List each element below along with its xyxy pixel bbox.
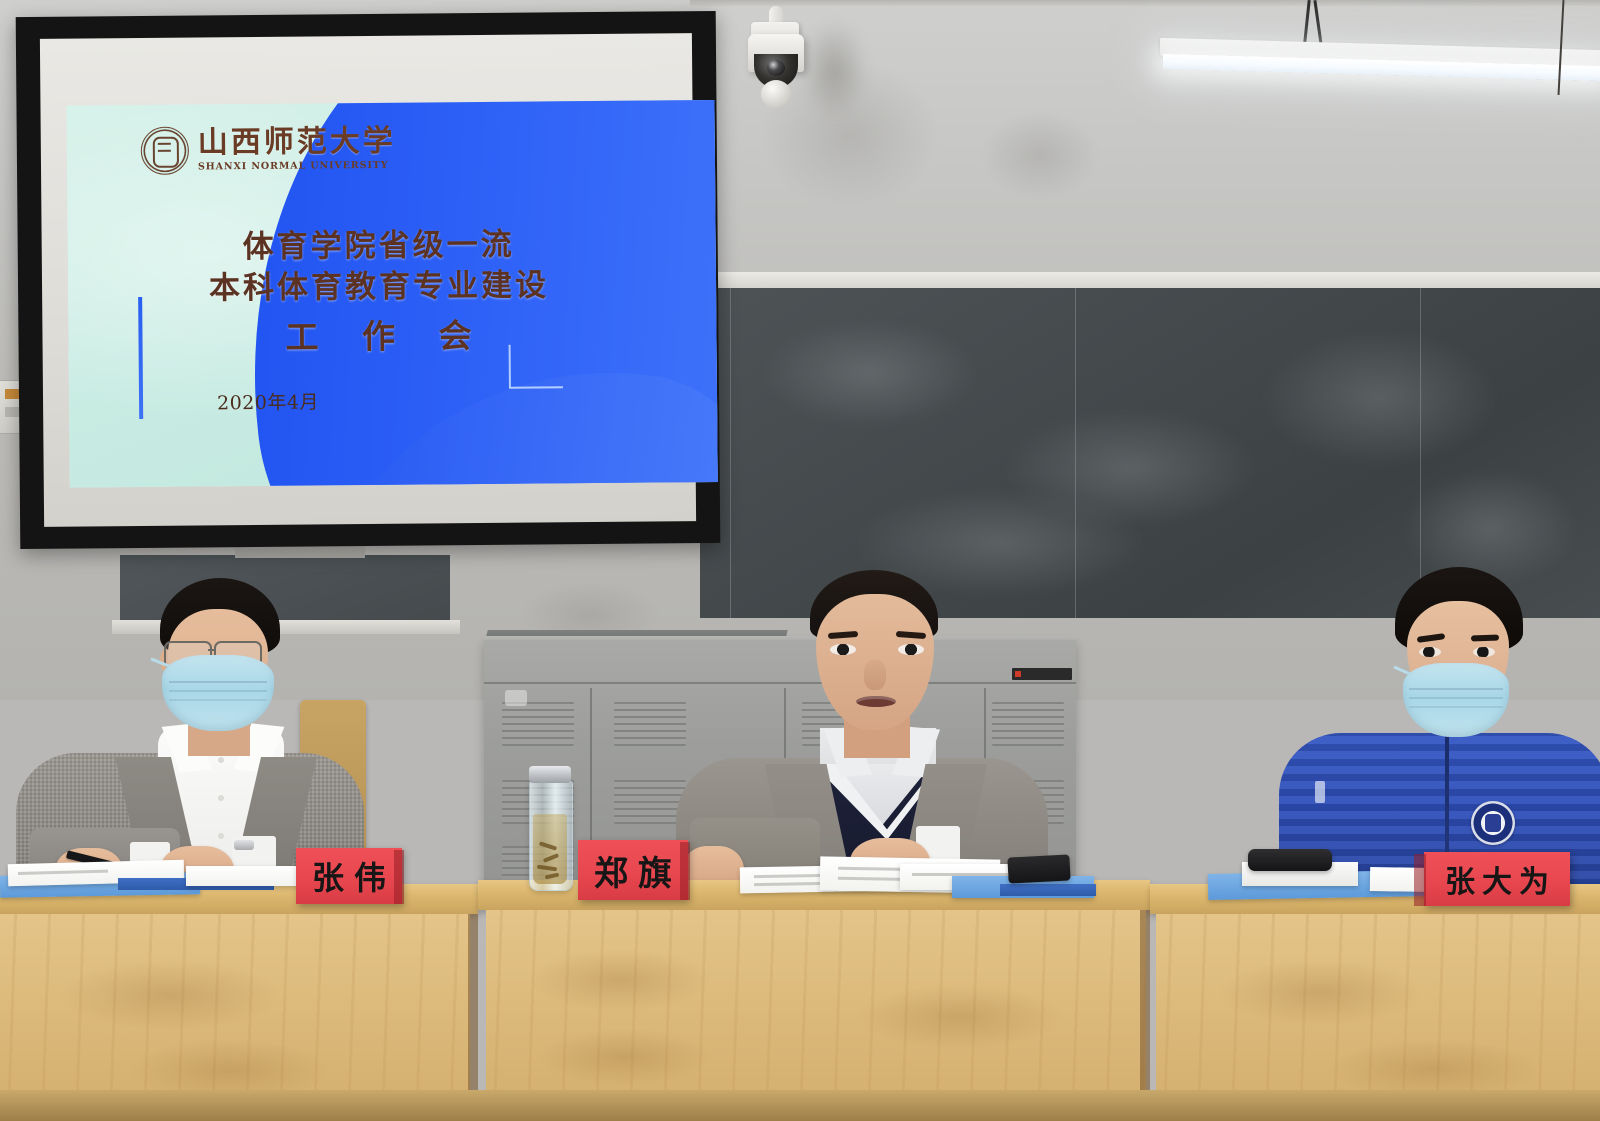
black-smartphone	[1007, 854, 1070, 883]
eye	[830, 644, 856, 655]
placard-name: 张大为	[1438, 857, 1556, 901]
name-placard-zhangwei: 张伟	[296, 848, 402, 904]
stacked-documents	[186, 866, 312, 886]
placard-fold	[394, 850, 404, 904]
slide-title-line1: 体育学院省级一流	[164, 224, 594, 269]
outlet-slot	[5, 407, 19, 417]
slide-date: 2020年4月	[217, 387, 319, 415]
glass-tea-thermos	[529, 779, 573, 891]
university-seal-icon	[141, 127, 189, 175]
slide-title-line2: 本科体育教育专业建设	[164, 265, 594, 310]
university-name-en: SHANXI NORMAL UNIVERSITY	[198, 161, 396, 172]
console-sticker	[505, 690, 527, 706]
slide-title-line3: 工 作 会	[164, 310, 594, 363]
floor	[0, 1090, 1600, 1121]
placard-name: 张伟	[302, 853, 396, 899]
eyebrow	[1471, 635, 1499, 642]
thermos-cap	[529, 766, 571, 783]
dome-camera-icon	[745, 6, 825, 116]
face-mask	[162, 655, 274, 731]
folder-spine	[1000, 884, 1096, 896]
meeting-photo-scene: 张伟 郑旗 张大为 山西师范大学 SHANXI NORMAL UNIVERSIT…	[0, 0, 1600, 1121]
placard-fold	[680, 842, 690, 900]
chelsea-crest-icon	[1471, 801, 1515, 845]
tea-liquid	[533, 814, 567, 884]
nose	[864, 660, 886, 690]
name-placard-zhengqi: 郑旗	[578, 840, 688, 900]
placard-name: 郑旗	[584, 846, 682, 895]
university-name-cn: 山西师范大学	[198, 127, 396, 159]
camera-lens	[767, 60, 785, 76]
fluorescent-light-fixture	[1105, 0, 1600, 110]
eye	[898, 644, 924, 655]
eye	[1473, 647, 1495, 657]
university-logo: 山西师范大学 SHANXI NORMAL UNIVERSITY	[141, 125, 396, 175]
sleeve-logo	[1315, 781, 1325, 803]
presentation-slide: 山西师范大学 SHANXI NORMAL UNIVERSITY 体育学院省级一流…	[66, 100, 717, 488]
wall-smudge	[980, 110, 1100, 200]
camera-ball-joint	[761, 80, 791, 108]
name-placard-zhangdawei: 张大为	[1424, 852, 1570, 906]
person-right	[1285, 565, 1600, 900]
face-mask	[1403, 663, 1509, 737]
projection-screen: 山西师范大学 SHANXI NORMAL UNIVERSITY 体育学院省级一流…	[16, 11, 721, 549]
mouth	[856, 696, 896, 707]
placard-fold	[1414, 854, 1426, 906]
screen-surface: 山西师范大学 SHANXI NORMAL UNIVERSITY 体育学院省级一流…	[40, 33, 696, 527]
wristwatch	[234, 840, 254, 850]
slide-title: 体育学院省级一流 本科体育教育专业建设 工 作 会	[164, 224, 595, 363]
eye	[1419, 647, 1441, 657]
outlet-slot	[5, 389, 19, 399]
black-pouch	[1248, 849, 1332, 871]
